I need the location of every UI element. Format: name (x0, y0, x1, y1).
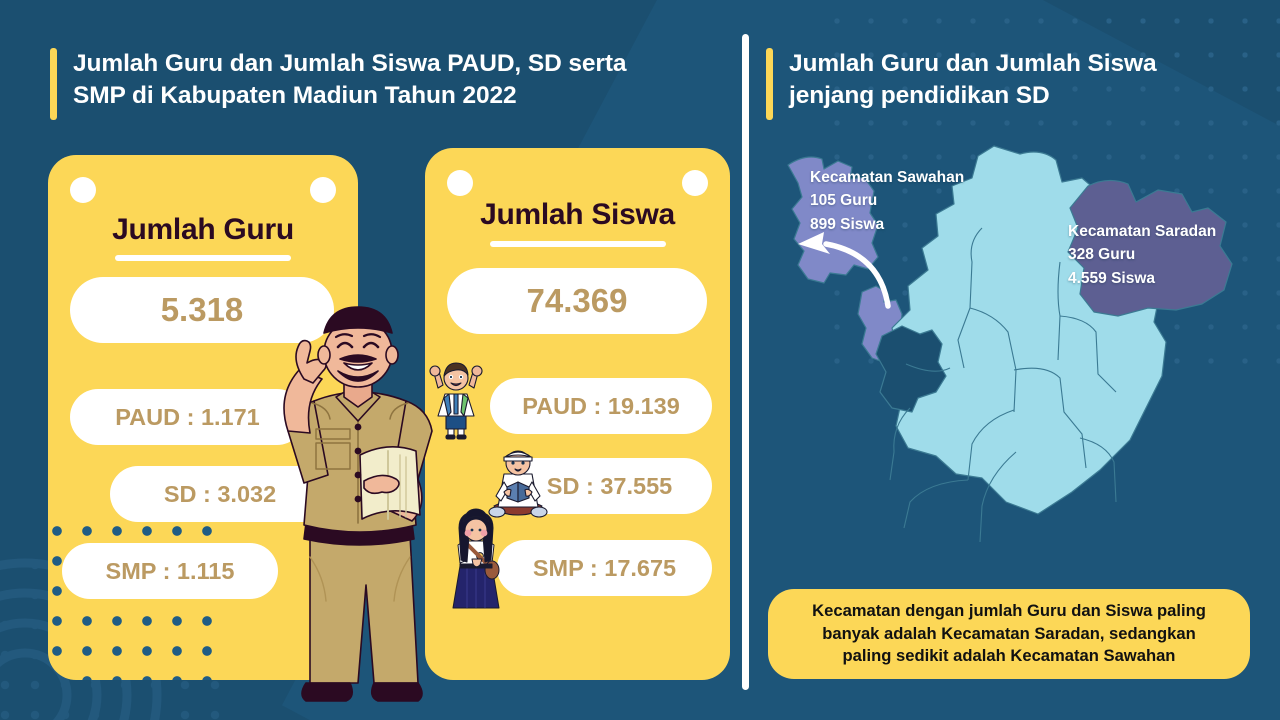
panel-divider (742, 34, 749, 690)
left-panel-title-text: Jumlah Guru dan Jumlah Siswa PAUD, SD se… (73, 48, 626, 120)
map-caption-box: Kecamatan dengan jumlah Guru dan Siswa p… (768, 589, 1250, 679)
teacher-illustration (252, 305, 467, 717)
left-panel-title: Jumlah Guru dan Jumlah Siswa PAUD, SD se… (50, 48, 710, 120)
title-accent-bar (50, 48, 57, 120)
infographic-root: Jumlah Guru dan Jumlah Siswa PAUD, SD se… (0, 0, 1280, 720)
title-accent-bar (766, 48, 773, 120)
siswa-paud-value: PAUD : 19.139 (490, 378, 712, 434)
map-kabupaten-madiun[interactable]: Kecamatan Sawahan 105 Guru 899 Siswa Kec… (758, 140, 1270, 580)
map-label-sawahan: Kecamatan Sawahan 105 Guru 899 Siswa (810, 166, 964, 236)
card-title-jumlah-siswa: Jumlah Siswa (425, 198, 730, 232)
right-panel-title-text: Jumlah Guru dan Jumlah Siswa jenjang pen… (789, 48, 1157, 120)
siswa-smp-value: SMP : 17.675 (497, 540, 712, 596)
map-label-saradan: Kecamatan Saradan 328 Guru 4.559 Siswa (1068, 220, 1216, 290)
card-title-underline (115, 255, 291, 261)
card-hole-right-icon (682, 170, 708, 196)
card-title-jumlah-guru: Jumlah Guru (48, 213, 358, 247)
card-hole-left-icon (70, 177, 96, 203)
card-hole-left-icon (447, 170, 473, 196)
siswa-total-value: 74.369 (447, 268, 707, 334)
right-panel-title: Jumlah Guru dan Jumlah Siswa jenjang pen… (766, 48, 1236, 120)
card-title-underline (490, 241, 666, 247)
guru-smp-value: SMP : 1.115 (62, 543, 278, 599)
card-hole-right-icon (310, 177, 336, 203)
